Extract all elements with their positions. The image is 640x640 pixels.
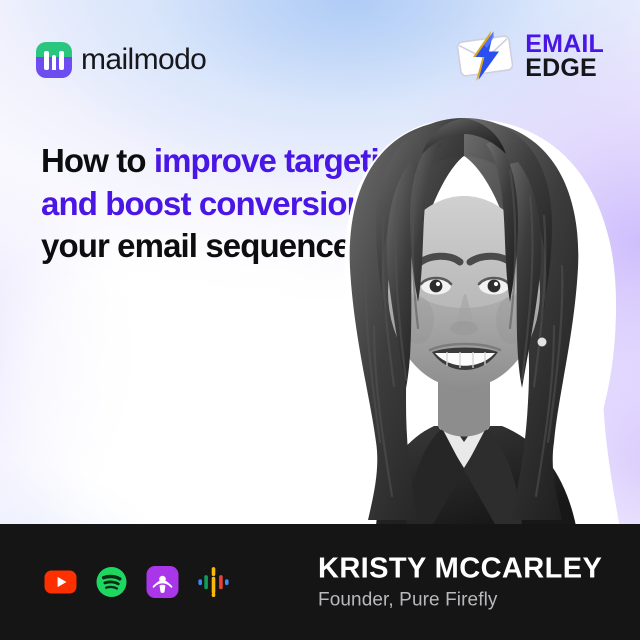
speaker-credit: KRISTY MCCARLEY Founder, Pure Firefly [318,552,602,611]
google-podcasts-icon[interactable] [197,566,230,599]
headline-part-1: How to [41,142,154,179]
email-edge-wordmark: EMAIL EDGE [525,32,604,80]
mailmodo-brand-lockup[interactable]: mailmodo [36,42,206,78]
footer-bar: KRISTY MCCARLEY Founder, Pure Firefly [0,524,640,640]
spotify-icon[interactable] [95,566,128,599]
platform-icon-row [44,566,230,599]
badge-word-edge: EDGE [525,56,604,80]
podcast-promo-poster: mailmodo EMAIL EDGE How to impro [0,0,640,640]
episode-headline: How to improve targeting and boost conve… [41,140,421,268]
envelope-lightning-icon [453,30,517,82]
youtube-icon[interactable] [44,566,77,599]
mailmodo-logo-icon [36,42,72,78]
header: mailmodo EMAIL EDGE [0,0,640,112]
badge-word-email: EMAIL [525,32,604,56]
email-edge-badge[interactable]: EMAIL EDGE [453,30,604,82]
brand-name-label: mailmodo [81,45,206,75]
apple-podcasts-icon[interactable] [146,566,179,599]
speaker-name: KRISTY MCCARLEY [318,552,602,584]
speaker-role: Founder, Pure Firefly [318,591,602,612]
